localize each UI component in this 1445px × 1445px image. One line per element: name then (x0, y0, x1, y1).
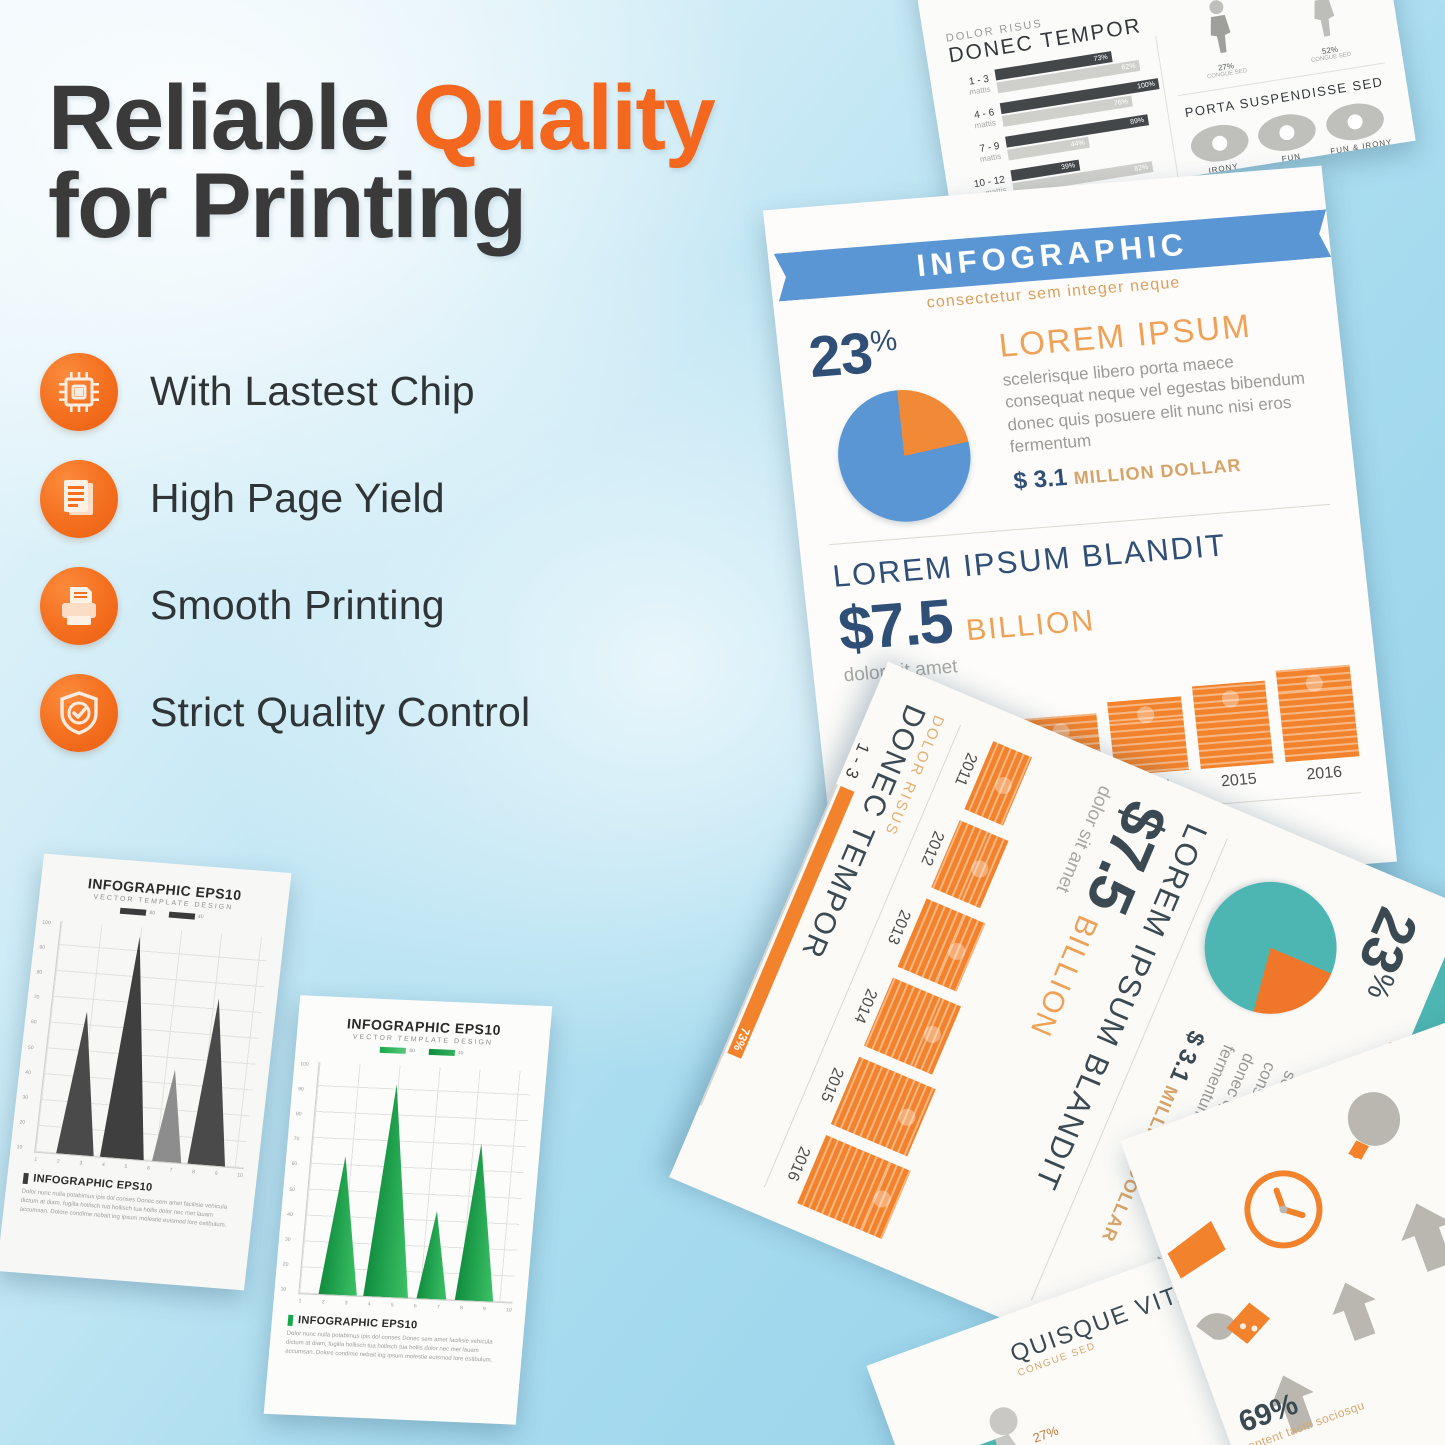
feature-label: Smooth Printing (150, 582, 445, 629)
key-swatch (120, 908, 147, 916)
spike-area-series (35, 921, 270, 1168)
grey-pill-group: IRONY (1188, 121, 1253, 177)
eps-key: 80 (120, 908, 155, 917)
shield-check-icon (40, 674, 118, 752)
million-amount: $ 3.1 (1012, 464, 1068, 495)
pill-label: FUN & IRONY (1330, 137, 1393, 156)
feature-label: With Lastest Chip (150, 368, 475, 415)
pie-chart (831, 385, 977, 527)
feature-list: With Lastest Chip High Page Yield (40, 338, 720, 766)
year-bar: 2011 (942, 732, 1032, 826)
ribbon-title: INFOGRAPHIC (915, 227, 1190, 285)
poster-canvas: Reliable Quality for Printing (0, 0, 1445, 1445)
feature-item-chip: With Lastest Chip (40, 338, 720, 445)
person-pictogram-icon (1198, 0, 1240, 57)
key-swatch (169, 912, 196, 920)
feature-item-quality-control: Strict Quality Control (40, 659, 720, 766)
year-label: 2016 (1306, 764, 1343, 785)
year-bar: 2016 (1276, 665, 1362, 786)
key-label: 80 (149, 910, 155, 916)
arrow-up-icon (1386, 1189, 1445, 1282)
lightbulb-icon (1316, 1077, 1426, 1187)
feature-label: Strict Quality Control (150, 689, 530, 736)
document-icon (40, 460, 118, 538)
grey-pct-group: 52% CONGUE SED (1299, 0, 1351, 64)
grey-pct-group: 27% CONGUE SED (1195, 0, 1247, 80)
eps-footer-body: Dolor nunc nulla potabimus ipis dol cons… (285, 1330, 507, 1367)
blandit-amount: $7.5 (835, 586, 955, 666)
year-bar: 2015 (1192, 681, 1277, 793)
feature-item-page-yield: High Page Yield (40, 445, 720, 552)
footer-marker (287, 1314, 293, 1325)
eps-green-plot: 10090 8070 6050 4030 2010 12 34 (298, 1062, 532, 1303)
year-label: 2015 (1220, 771, 1257, 792)
pct-symbol: % (869, 324, 898, 359)
printer-icon (40, 567, 118, 645)
eps-grey-plot: 10090 8070 6050 4030 2010 12 34 56 78 91… (34, 921, 270, 1169)
bar-grey: 44% (669, 745, 759, 934)
key-swatch (429, 1049, 456, 1056)
blandit-unit: BILLION (964, 604, 1096, 648)
million-label: MILLION DOLLAR (1073, 455, 1243, 488)
pie-percentage: 23% (806, 309, 1003, 391)
spike-area-series (299, 1062, 532, 1302)
key-label: 40 (458, 1050, 464, 1056)
feature-label: High Page Yield (150, 475, 445, 522)
headline-line1-accent: Quality (413, 67, 714, 169)
handshake-icon (1183, 1272, 1290, 1373)
arrow-up-icon (1318, 1270, 1391, 1350)
eps-footer-title: INFOGRAPHIC EPS10 (297, 1314, 417, 1331)
pill-shape-icon (1324, 100, 1387, 145)
key-label: 40 (198, 914, 204, 920)
bar-grey: 82% (669, 729, 719, 1049)
footer-marker (23, 1172, 29, 1183)
feature-item-smooth-printing: Smooth Printing (40, 552, 720, 659)
key-label: 80 (409, 1048, 415, 1054)
eps-key: 40 (169, 912, 204, 921)
chip-icon (40, 353, 118, 431)
pill-shape-icon (1188, 121, 1251, 166)
pct-number: 23 (806, 320, 875, 390)
year-bar: 2012 (909, 811, 1009, 909)
headline-line1-plain: Reliable (48, 67, 413, 169)
headline-line2: for Printing (48, 155, 526, 257)
clock-icon (1224, 1150, 1342, 1268)
grey-pill-group: FUN & IRONY (1324, 99, 1393, 156)
eps10-grey-sheet: INFOGRAPHIC EPS10 VECTOR TEMPLATE DESIGN… (0, 854, 291, 1291)
page-title: Reliable Quality for Printing (48, 74, 878, 251)
eps-key: 80 (380, 1047, 415, 1054)
lorem-ipsum-body: scelerisque libero porta maece consequat… (1002, 345, 1325, 459)
grey-pill-group: FUN (1256, 110, 1321, 166)
eps-key: 40 (429, 1049, 464, 1056)
person-pictogram-icon (1302, 0, 1344, 41)
pill-shape-icon (1256, 110, 1319, 155)
key-swatch (380, 1047, 407, 1054)
pill-label: FUN (1262, 149, 1321, 167)
eps10-green-sheet: INFOGRAPHIC EPS10 VECTOR TEMPLATE DESIGN… (264, 995, 553, 1424)
